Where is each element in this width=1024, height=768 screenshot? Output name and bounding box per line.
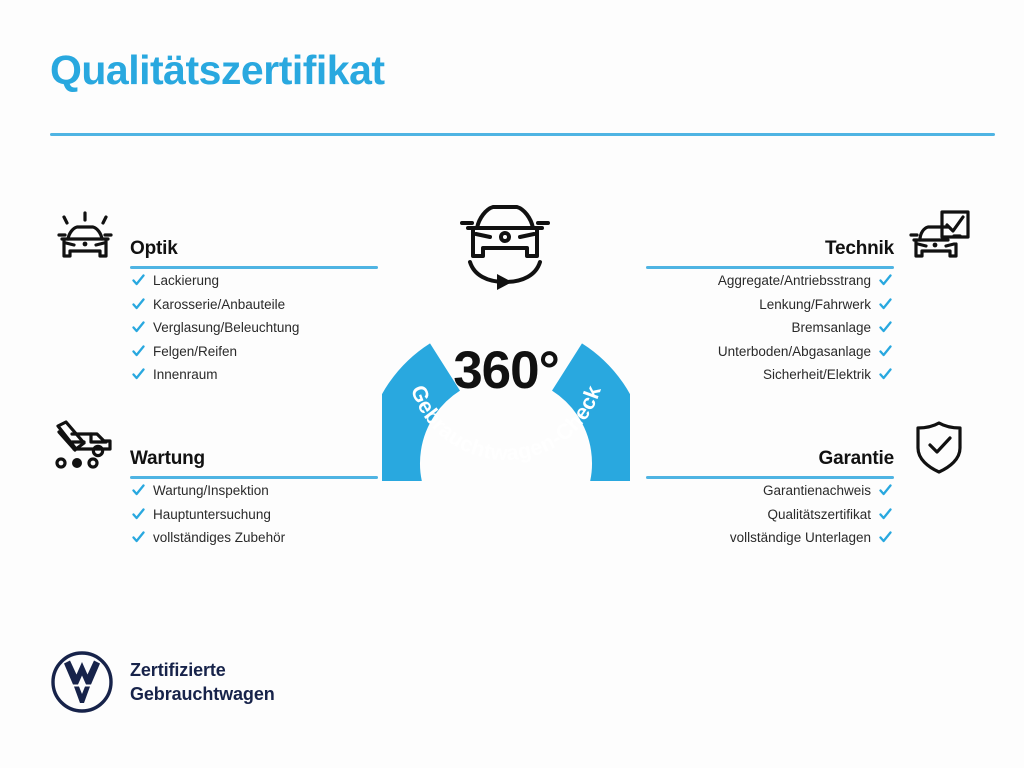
list-item-label: vollständiges Zubehör (153, 531, 285, 545)
list-item-label: Felgen/Reifen (153, 345, 237, 359)
section-technik-divider (646, 266, 894, 269)
check-icon (132, 531, 145, 544)
list-item: vollständige Unterlagen (634, 531, 892, 545)
car-front-shine-icon (50, 206, 120, 268)
list-item: Aggregate/Antriebsstrang (634, 274, 892, 288)
check-icon (132, 484, 145, 497)
list-item: Wartung/Inspektion (132, 484, 390, 498)
section-technik-list: Aggregate/Antriebsstrang Lenkung/Fahrwer… (634, 274, 892, 382)
list-item-label: Hauptuntersuchung (153, 508, 271, 522)
list-item-label: vollständige Unterlagen (730, 531, 871, 545)
check-icon (879, 368, 892, 381)
section-garantie-list: Garantienachweis Qualitätszertifikat vol… (634, 484, 892, 545)
footer-brand-text: Zertifizierte Gebrauchtwagen (130, 658, 275, 707)
section-wartung-divider (130, 476, 378, 479)
badge-curved-text-path: Gebrauchtwagen-Check (406, 382, 606, 465)
section-wartung-header: Wartung (50, 416, 390, 484)
list-item-label: Verglasung/Beleuchtung (153, 321, 299, 335)
section-optik: Optik Lackierung Karosserie/Anbauteile (50, 206, 390, 392)
list-item: Lenkung/Fahrwerk (634, 298, 892, 312)
list-item: Qualitätszertifikat (634, 508, 892, 522)
section-wartung: Wartung Wartung/Inspektion Hauptuntersuc… (50, 416, 390, 555)
section-garantie-title: Garantie (819, 448, 895, 470)
list-item: Verglasung/Beleuchtung (132, 321, 390, 335)
list-item: Felgen/Reifen (132, 345, 390, 359)
section-technik: Technik Aggregate/Antriebsstrang Lenkung… (634, 206, 974, 392)
check-icon (132, 298, 145, 311)
list-item-label: Garantienachweis (763, 484, 871, 498)
list-item: Bremsanlage (634, 321, 892, 335)
list-item: Karosserie/Anbauteile (132, 298, 390, 312)
pen-car-service-icon (50, 416, 120, 478)
list-item-label: Bremsanlage (791, 321, 871, 335)
check-icon (132, 274, 145, 287)
list-item-label: Karosserie/Anbauteile (153, 298, 285, 312)
list-item-label: Sicherheit/Elektrik (763, 368, 871, 382)
title-divider (50, 133, 995, 136)
list-item-label: Unterboden/Abgasanlage (718, 345, 871, 359)
check-icon (879, 274, 892, 287)
section-technik-header: Technik (634, 206, 974, 274)
section-optik-header: Optik (50, 206, 390, 274)
list-item: Garantienachweis (634, 484, 892, 498)
list-item-label: Aggregate/Antriebsstrang (718, 274, 871, 288)
section-wartung-list: Wartung/Inspektion Hauptuntersuchung vol… (132, 484, 390, 545)
footer-line-1: Zertifizierte (130, 658, 275, 682)
list-item: vollständiges Zubehör (132, 531, 390, 545)
check-icon (879, 484, 892, 497)
check-icon (132, 321, 145, 334)
check-icon (879, 531, 892, 544)
certificate-page: Qualitätszertifikat (0, 0, 1024, 768)
shield-check-icon (904, 416, 974, 478)
list-item-label: Wartung/Inspektion (153, 484, 269, 498)
check-icon (132, 508, 145, 521)
list-item-label: Innenraum (153, 368, 218, 382)
list-item: Innenraum (132, 368, 390, 382)
section-optik-list: Lackierung Karosserie/Anbauteile Verglas… (132, 274, 390, 382)
check-icon (879, 298, 892, 311)
list-item-label: Qualitätszertifikat (767, 508, 871, 522)
section-garantie: Garantie Garantienachweis Qualitätszerti… (634, 416, 974, 555)
check-icon (879, 321, 892, 334)
section-technik-title: Technik (825, 238, 894, 260)
check-icon (132, 368, 145, 381)
svg-text:Gebrauchtwagen-Check: Gebrauchtwagen-Check (406, 382, 606, 465)
section-garantie-header: Garantie (634, 416, 974, 484)
footer-line-2: Gebrauchtwagen (130, 682, 275, 706)
check-icon (132, 345, 145, 358)
list-item-label: Lenkung/Fahrwerk (759, 298, 871, 312)
section-optik-divider (130, 266, 378, 269)
section-wartung-title: Wartung (130, 448, 205, 470)
list-item: Sicherheit/Elektrik (634, 368, 892, 382)
list-item-label: Lackierung (153, 274, 219, 288)
list-item: Hauptuntersuchung (132, 508, 390, 522)
list-item: Unterboden/Abgasanlage (634, 345, 892, 359)
car-checkbox-icon (904, 206, 974, 268)
vw-logo (50, 650, 114, 714)
section-garantie-divider (646, 476, 894, 479)
footer-brand: Zertifizierte Gebrauchtwagen (50, 650, 275, 714)
section-optik-title: Optik (130, 238, 178, 260)
page-title: Qualitätszertifikat (50, 48, 385, 93)
check-icon (879, 345, 892, 358)
badge-curved-text: Gebrauchtwagen-Check (380, 253, 632, 489)
badge-360-gebrauchtwagen-check: 360° Gebrauchtwagen-Check (380, 200, 632, 490)
list-item: Lackierung (132, 274, 390, 288)
check-icon (879, 508, 892, 521)
